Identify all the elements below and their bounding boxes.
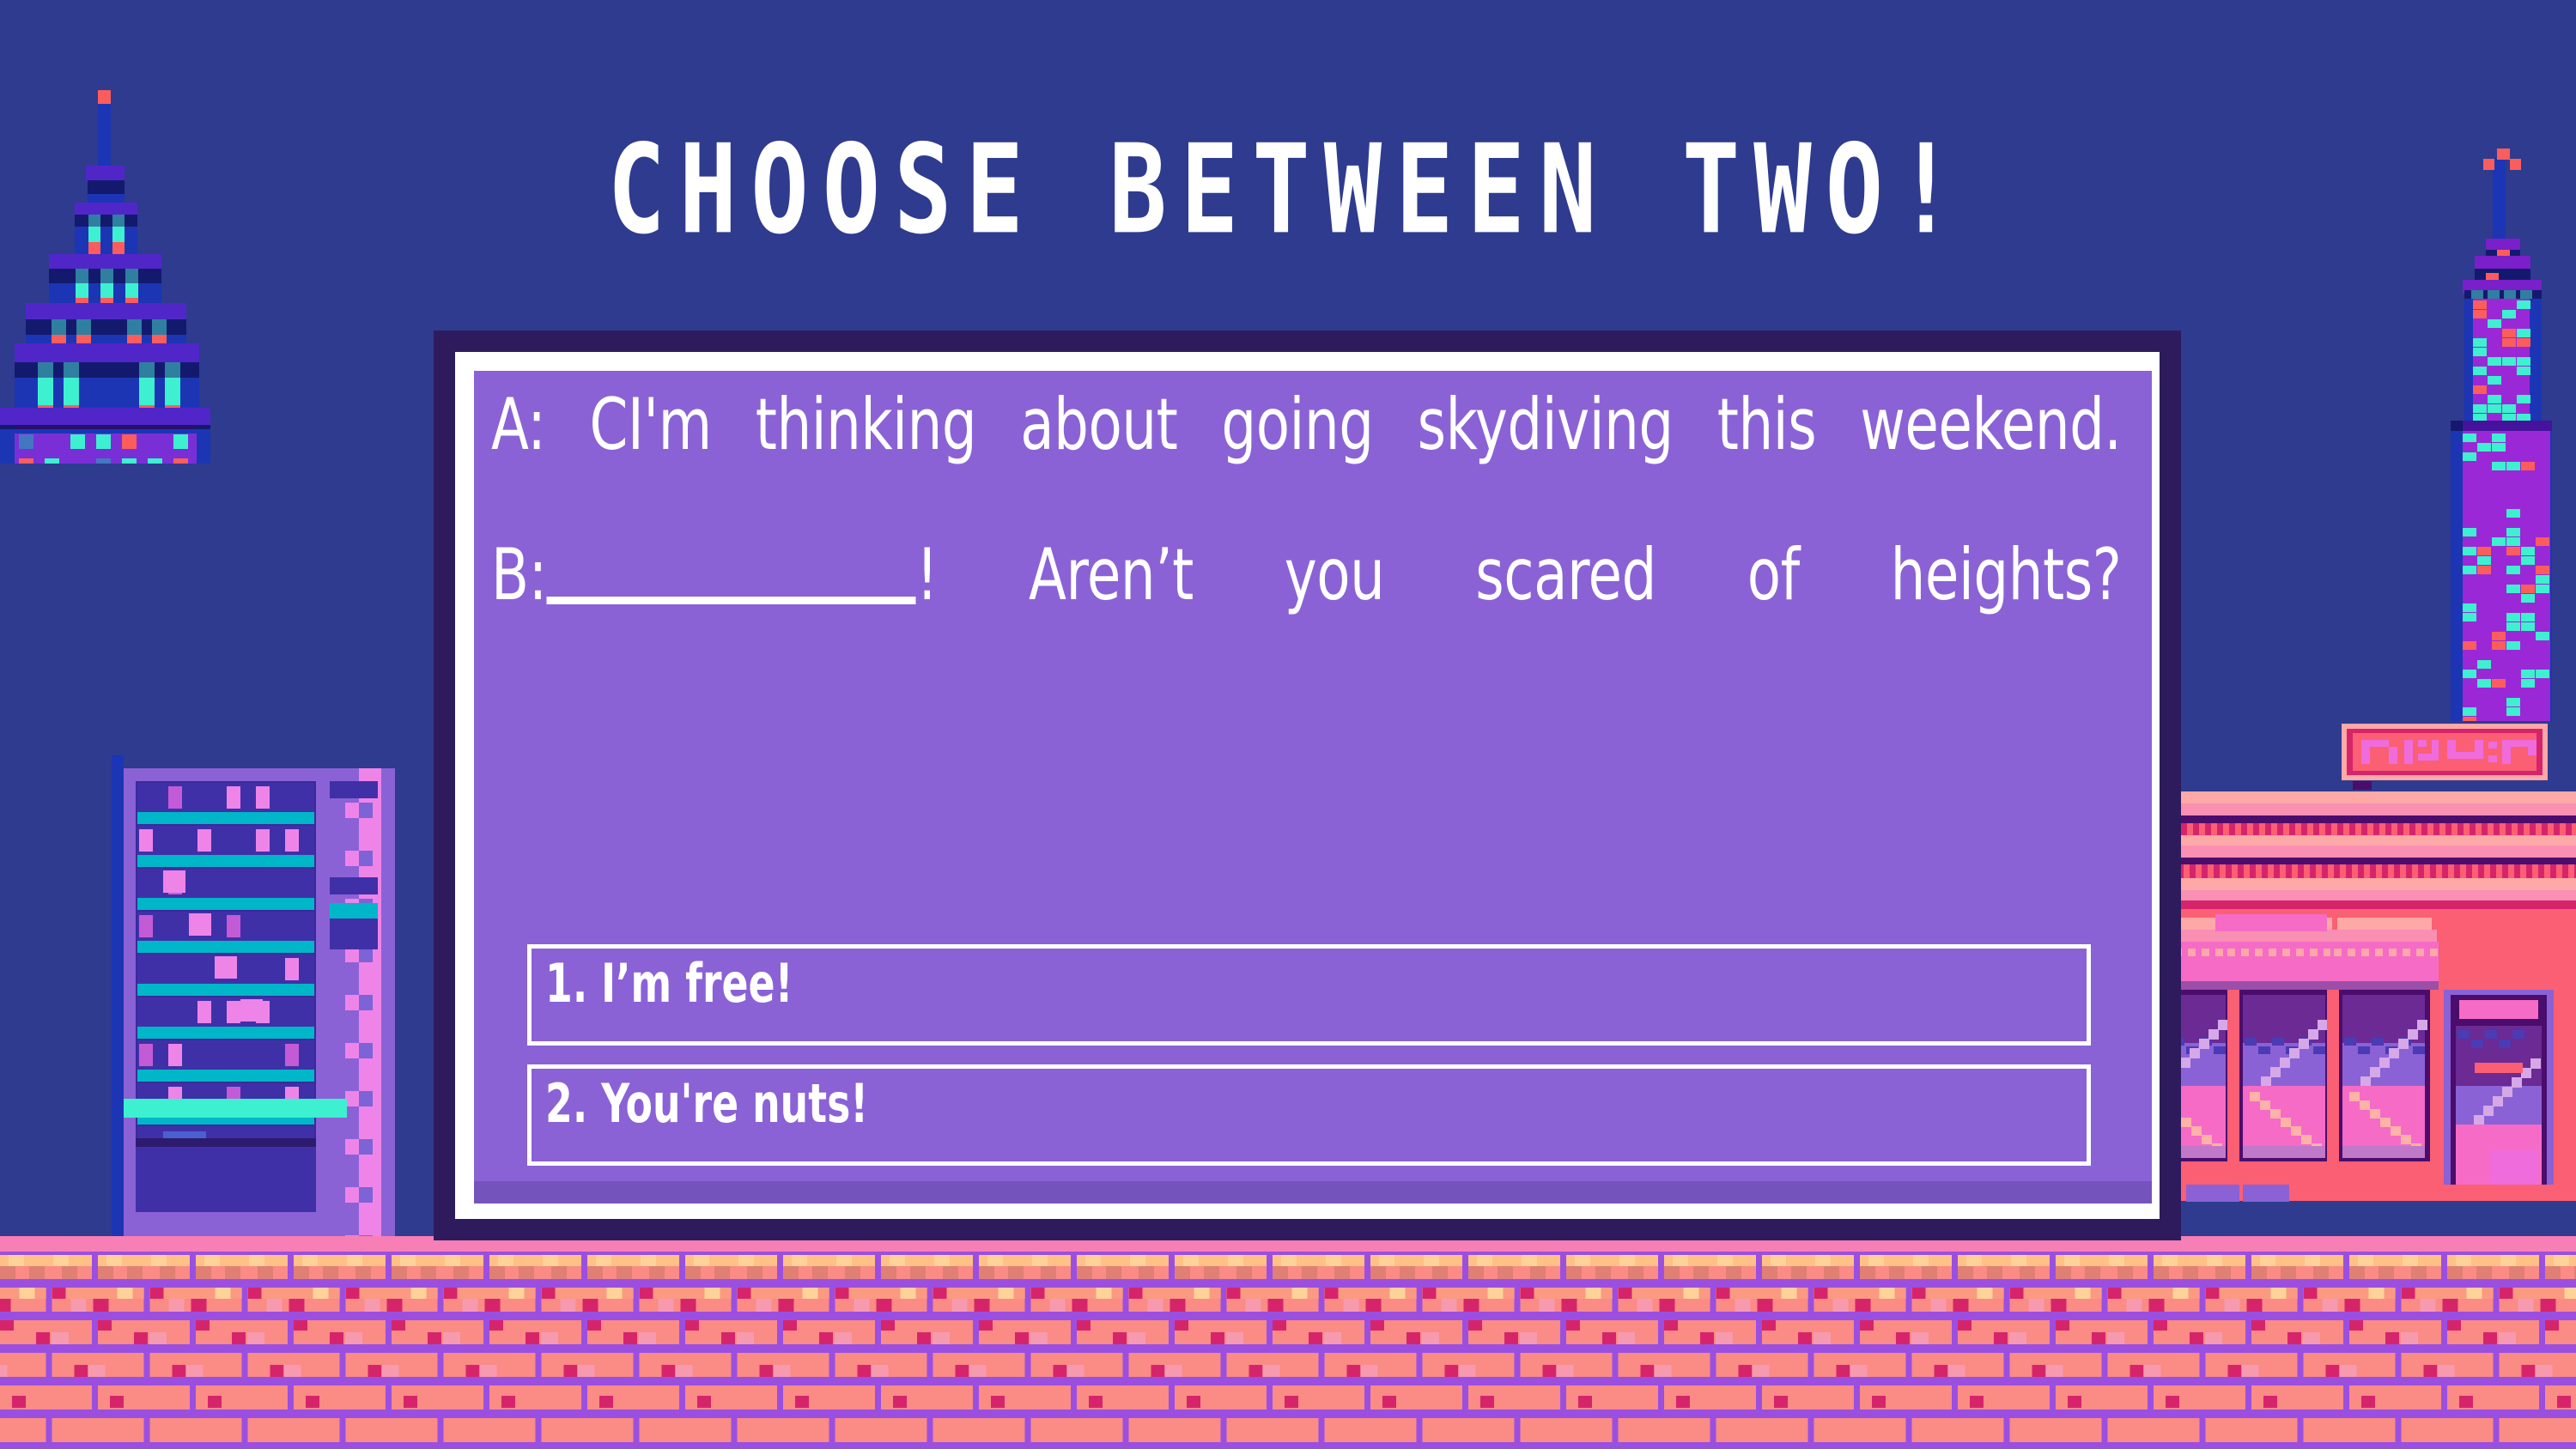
dialogue-line-b: B:! Aren’t you scared of heights? [491,538,2121,685]
panel-white-frame: A: CI'm thinking about going skydiving t… [455,352,2160,1219]
option-1-label: 1. I’m free! [545,955,793,1011]
dialogue-line-a: A: CI'm thinking about going skydiving t… [491,388,2121,535]
option-2[interactable]: 2. You're nuts! [527,1064,2091,1166]
page-title: CHOOSE BETWEEN TWO! [0,129,2576,252]
left-building-pixelart [112,755,395,1245]
scene-root: CHOOSE BETWEEN TWO! A: CI'm thinking abo… [0,0,2576,1449]
panel-content: A: CI'm thinking about going skydiving t… [491,388,2125,1197]
brick-pavement [0,1236,2576,1449]
dialogue-line-b-speaker: B: [491,533,547,616]
option-1[interactable]: 1. I’m free! [527,944,2091,1046]
dialogue-panel: A: CI'm thinking about going skydiving t… [434,330,2181,1240]
option-2-label: 2. You're nuts! [545,1076,868,1131]
dialogue-line-b-tail: ! Aren’t you scared of heights? [916,533,2122,616]
fill-in-blank[interactable] [547,597,916,604]
answer-options: 1. I’m free! 2. You're nuts! [527,944,2091,1166]
